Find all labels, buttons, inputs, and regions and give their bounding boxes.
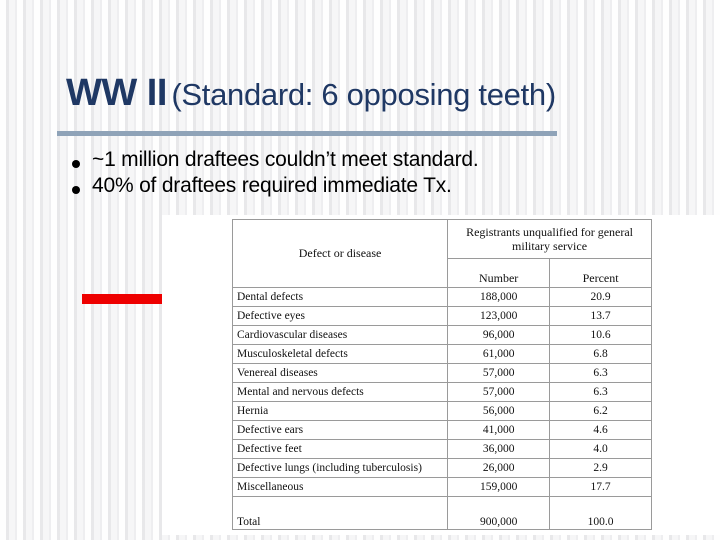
cell-percent: 6.3 (550, 383, 652, 402)
cell-percent: 2.9 (550, 459, 652, 478)
cell-defect: Hernia (233, 402, 448, 421)
cell-number: 56,000 (448, 402, 550, 421)
cell-percent: 17.7 (550, 478, 652, 497)
cell-defect: Defective ears (233, 421, 448, 440)
cell-percent: 13.7 (550, 307, 652, 326)
table-row: Defective feet 36,000 4.0 (233, 440, 652, 459)
title-subtitle-text: (Standard: 6 opposing teeth) (171, 77, 556, 112)
table-row: Defective ears 41,000 4.6 (233, 421, 652, 440)
cell-number: 123,000 (448, 307, 550, 326)
table-header-row: Defect or disease Registrants unqualifie… (233, 220, 652, 259)
bullet-dot-icon (72, 186, 80, 194)
table-row: Musculoskeletal defects 61,000 6.8 (233, 345, 652, 364)
title-divider-rule (57, 131, 557, 136)
table-row: Dental defects 188,000 20.9 (233, 288, 652, 307)
embedded-table-image: Defect or disease Registrants unqualifie… (162, 215, 720, 535)
table-row: Defective lungs (including tuberculosis)… (233, 459, 652, 478)
table-total-row: Total 900,000 100.0 (233, 497, 652, 530)
table-row: Miscellaneous 159,000 17.7 (233, 478, 652, 497)
bullet-text: ~1 million draftees couldn’t meet standa… (92, 148, 479, 172)
cell-number: 188,000 (448, 288, 550, 307)
table-row: Hernia 56,000 6.2 (233, 402, 652, 421)
cell-defect: Venereal diseases (233, 364, 448, 383)
list-item: 40% of draftees required immediate Tx. (72, 172, 632, 198)
cell-number: 57,000 (448, 383, 550, 402)
header-percent: Percent (550, 259, 652, 288)
header-number: Number (448, 259, 550, 288)
cell-number: 36,000 (448, 440, 550, 459)
bullet-text: 40% of draftees required immediate Tx. (92, 174, 452, 198)
header-registrants-group: Registrants unqualified for general mili… (448, 220, 652, 259)
cell-percent: 6.3 (550, 364, 652, 383)
cell-defect: Defective lungs (including tuberculosis) (233, 459, 448, 478)
header-defect-or-disease: Defect or disease (233, 220, 448, 288)
cell-defect: Dental defects (233, 288, 448, 307)
cell-defect: Cardiovascular diseases (233, 326, 448, 345)
table-row: Defective eyes 123,000 13.7 (233, 307, 652, 326)
title-main-text: WW II (66, 72, 167, 114)
slide-canvas: WW II (Standard: 6 opposing teeth) ~1 mi… (0, 0, 720, 540)
statistics-table: Defect or disease Registrants unqualifie… (232, 219, 652, 530)
cell-total-number: 900,000 (448, 497, 550, 530)
cell-total-percent: 100.0 (550, 497, 652, 530)
cell-defect: Defective feet (233, 440, 448, 459)
cell-percent: 4.6 (550, 421, 652, 440)
cell-percent: 20.9 (550, 288, 652, 307)
bullet-dot-icon (72, 160, 80, 168)
cell-number: 26,000 (448, 459, 550, 478)
cell-number: 41,000 (448, 421, 550, 440)
page-title: WW II (Standard: 6 opposing teeth) (66, 72, 686, 115)
cell-defect: Defective eyes (233, 307, 448, 326)
cell-percent: 6.8 (550, 345, 652, 364)
bullet-list: ~1 million draftees couldn’t meet standa… (72, 146, 632, 198)
cell-defect: Miscellaneous (233, 478, 448, 497)
table-row: Mental and nervous defects 57,000 6.3 (233, 383, 652, 402)
cell-percent: 10.6 (550, 326, 652, 345)
cell-number: 96,000 (448, 326, 550, 345)
cell-number: 57,000 (448, 364, 550, 383)
list-item: ~1 million draftees couldn’t meet standa… (72, 146, 632, 172)
cell-percent: 4.0 (550, 440, 652, 459)
cell-total-label: Total (233, 497, 448, 530)
cell-percent: 6.2 (550, 402, 652, 421)
cell-defect: Mental and nervous defects (233, 383, 448, 402)
table-row: Cardiovascular diseases 96,000 10.6 (233, 326, 652, 345)
cell-number: 159,000 (448, 478, 550, 497)
cell-number: 61,000 (448, 345, 550, 364)
table-row: Venereal diseases 57,000 6.3 (233, 364, 652, 383)
cell-defect: Musculoskeletal defects (233, 345, 448, 364)
